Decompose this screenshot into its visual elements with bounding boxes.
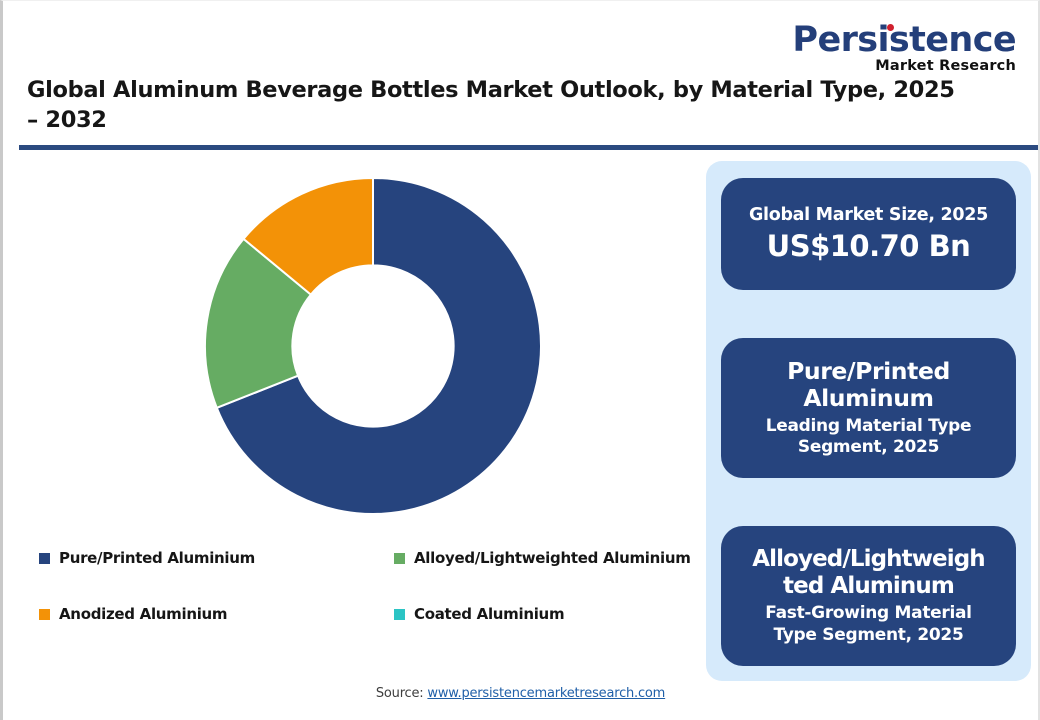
legend-item-alloyed-lightweighted-aluminium[interactable]: Alloyed/Lightweighted Aluminium xyxy=(394,549,699,567)
market-size-value: US$10.70 Bn xyxy=(767,229,971,263)
legend-swatch-icon xyxy=(39,553,50,564)
legend-item-label: Coated Aluminium xyxy=(414,605,564,623)
stat-card-fast-growing-segment: Alloyed/Lightweigh ted Aluminum Fast-Gro… xyxy=(721,526,1016,666)
brand-logo: Persistence Market Research xyxy=(792,23,1016,74)
source-label: Source: xyxy=(376,686,428,701)
legend-item-pure-printed-aluminium[interactable]: Pure/Printed Aluminium xyxy=(39,549,394,567)
legend-item-label: Pure/Printed Aluminium xyxy=(59,549,255,567)
fast-growing-heading-line2: ted Aluminum xyxy=(783,573,954,600)
legend-swatch-icon xyxy=(39,609,50,620)
legend-item-label: Anodized Aluminium xyxy=(59,605,227,623)
brand-logo-wordmark: Persistence xyxy=(792,23,1016,58)
donut-chart-svg xyxy=(3,156,703,556)
source-link[interactable]: www.persistencemarketresearch.com xyxy=(427,686,665,701)
legend-swatch-icon xyxy=(394,609,405,620)
infographic-canvas: Persistence Market Research Global Alumi… xyxy=(0,0,1040,720)
stat-card-market-size: Global Market Size, 2025 US$10.70 Bn xyxy=(721,178,1016,290)
leading-segment-heading-line1: Pure/Printed xyxy=(787,358,950,386)
donut-slice-group xyxy=(205,178,541,514)
fast-growing-heading-line1: Alloyed/Lightweigh xyxy=(752,546,985,573)
legend-swatch-icon xyxy=(394,553,405,564)
leading-segment-sub-line2: Segment, 2025 xyxy=(798,437,939,458)
fast-growing-sub-line2: Type Segment, 2025 xyxy=(774,625,964,646)
donut-chart xyxy=(3,156,703,556)
highlights-panel: Global Market Size, 2025 US$10.70 Bn Pur… xyxy=(706,161,1031,681)
chart-legend: Pure/Printed Aluminium Alloyed/Lightweig… xyxy=(39,549,699,661)
header-divider xyxy=(19,145,1038,150)
leading-segment-sub-line1: Leading Material Type xyxy=(766,416,972,437)
legend-item-label: Alloyed/Lightweighted Aluminium xyxy=(414,549,691,567)
brand-logo-tagline: Market Research xyxy=(792,59,1016,74)
legend-item-anodized-aluminium[interactable]: Anodized Aluminium xyxy=(39,605,394,623)
legend-row: Pure/Printed Aluminium Alloyed/Lightweig… xyxy=(39,549,699,605)
source-footer: Source: www.persistencemarketresearch.co… xyxy=(3,686,1038,701)
market-size-caption: Global Market Size, 2025 xyxy=(749,205,988,226)
fast-growing-sub-line1: Fast-Growing Material xyxy=(765,603,971,624)
legend-row: Anodized Aluminium Coated Aluminium xyxy=(39,605,699,661)
leading-segment-heading-line2: Aluminum xyxy=(803,385,933,413)
legend-item-coated-aluminium[interactable]: Coated Aluminium xyxy=(394,605,699,623)
stat-card-leading-segment: Pure/Printed Aluminum Leading Material T… xyxy=(721,338,1016,478)
page-title: Global Aluminum Beverage Bottles Market … xyxy=(27,76,967,135)
